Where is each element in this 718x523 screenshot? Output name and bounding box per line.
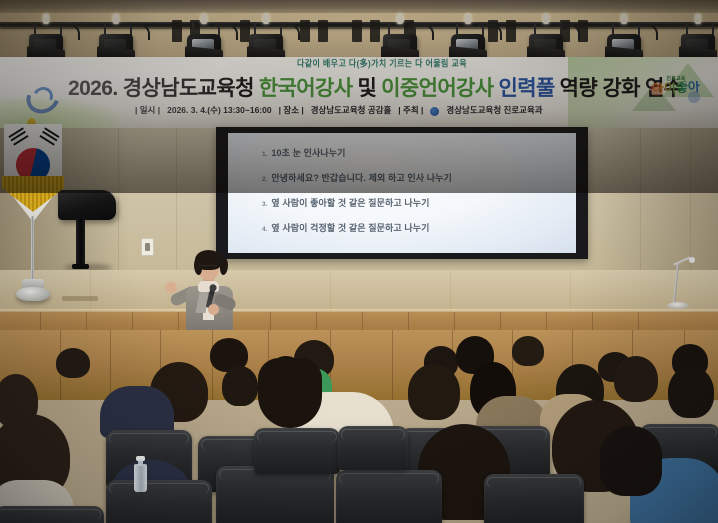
- host-mini-logo-icon: [430, 107, 439, 116]
- slide-line-text: 옆 사람이 좋아할 것 같은 질문하고 나누기: [271, 196, 429, 209]
- wall-slot: [506, 20, 516, 42]
- slide-line-number: 4.: [262, 226, 267, 233]
- ai-joha-wordmark: 아이좋아: [644, 80, 709, 95]
- audience-head: [258, 358, 322, 428]
- lecture-hall-photo: 다같이 배우고 다(多)가치 기르는 다 어울림 교육 2026. 경상남도교육…: [0, 0, 718, 523]
- banner-detail-tag-date: | 일시 |: [135, 104, 160, 116]
- banner-title-part-4: 인력풀: [499, 72, 555, 102]
- banner-slogan: 다같이 배우고 다(多)가치 기르는 다 어울림 교육: [252, 57, 512, 69]
- trigram-icon: [39, 127, 59, 145]
- wall-power-outlet: [141, 238, 154, 256]
- banner-title-part-1: 한국어강사: [259, 72, 353, 102]
- auditorium-seat: [484, 474, 584, 523]
- auditorium-seat: [216, 466, 334, 523]
- wall-slot: [300, 20, 310, 42]
- slide-line: 2. 안녕하세요? 반갑습니다. 제외 하고 인사 나누기: [262, 171, 562, 184]
- presenter-left-hand: [165, 282, 177, 293]
- presenter-speaking: [172, 248, 250, 340]
- slide-line-text: 10초 눈 인사나누기: [271, 146, 345, 159]
- banner-detail-value-host: 경상남도교육청 진로교육과: [446, 104, 542, 116]
- auditorium-seat: [0, 506, 104, 523]
- south-korean-flag-taegukgi: [2, 124, 68, 314]
- flag-stand-base: [16, 287, 50, 301]
- slide-line-number: 1.: [262, 151, 267, 158]
- presenter-glasses: [199, 265, 218, 271]
- audience-head: [668, 366, 714, 418]
- mic-boom: [673, 256, 690, 265]
- banner-detail-tag-place: | 장소 |: [279, 104, 304, 116]
- slide-line-text: 옆 사람이 걱정할 것 같은 질문하고 나누기: [271, 221, 429, 234]
- banner-title-part-0: 2026. 경상남도교육청: [68, 72, 254, 102]
- auditorium-seat: [336, 470, 442, 523]
- auditorium-seat: [254, 428, 340, 474]
- slide-line-number: 2.: [262, 176, 267, 183]
- audience-head: [600, 426, 662, 496]
- mic-head: [689, 257, 695, 263]
- audience-head: [56, 348, 90, 378]
- presenter-right-hand: [208, 304, 219, 315]
- auditorium-seat: [106, 480, 212, 523]
- wall-slot: [352, 20, 362, 42]
- projection-screen: 1. 10초 눈 인사나누기 2. 안녕하세요? 반갑습니다. 제외 하고 인사…: [228, 133, 576, 253]
- wall-slot: [172, 20, 182, 42]
- wall-slot: [318, 20, 328, 42]
- piano-leg: [76, 218, 85, 268]
- wall-slot: [370, 20, 380, 42]
- projection-screen-frame: 1. 10초 눈 인사나누기 2. 안녕하세요? 반갑습니다. 제외 하고 인사…: [216, 127, 588, 259]
- mic-pole: [673, 264, 679, 304]
- presenter-hair-side: [220, 258, 228, 275]
- audience-area: [0, 330, 718, 523]
- audience-head: [222, 366, 258, 406]
- audience-head: [614, 356, 658, 402]
- banner-detail-tag-host: | 주최 |: [398, 104, 423, 116]
- slide-line: 1. 10초 눈 인사나누기: [262, 146, 562, 159]
- banner-detail-value-place: 경상남도교육청 공감홀: [311, 104, 392, 116]
- gyeongnam-education-office-logo: [26, 81, 56, 107]
- event-banner: 다같이 배우고 다(多)가치 기르는 다 어울림 교육 2026. 경상남도교육…: [0, 57, 718, 128]
- piano-foot: [72, 264, 89, 269]
- banner-details: | 일시 | 2026. 3. 4.(수) 13:30~16:00 | 장소 |…: [135, 103, 595, 117]
- banner-title: 2026. 경상남도교육청 한국어강사 및 이중언어강사 인력풀 역량 강화 연…: [68, 73, 653, 101]
- slide-line: 4. 옆 사람이 걱정할 것 같은 질문하고 나누기: [262, 221, 562, 234]
- banner-title-part-2: 및: [357, 72, 376, 102]
- audience-head: [408, 364, 460, 420]
- water-bottle: [134, 456, 147, 492]
- trigram-icon: [8, 127, 28, 145]
- slide-line: 3. 옆 사람이 좋아할 것 같은 질문하고 나누기: [262, 196, 562, 209]
- audience-head: [512, 336, 544, 366]
- slide-content: 1. 10초 눈 인사나누기 2. 안녕하세요? 반갑습니다. 제외 하고 인사…: [262, 146, 562, 246]
- auditorium-seat: [338, 426, 408, 470]
- ai-joha-logo: 진로교육 아이좋아: [644, 75, 708, 111]
- microphone-stand: [657, 258, 697, 310]
- slide-line-text: 안녕하세요? 반갑습니다. 제외 하고 인사 나누기: [271, 171, 451, 184]
- banner-title-part-3: 이중언어강사: [381, 72, 493, 102]
- slide-line-number: 3.: [262, 201, 267, 208]
- banner-detail-value-date: 2026. 3. 4.(수) 13:30~16:00: [167, 104, 271, 116]
- mic-base: [667, 302, 689, 309]
- bottle-body: [134, 464, 147, 492]
